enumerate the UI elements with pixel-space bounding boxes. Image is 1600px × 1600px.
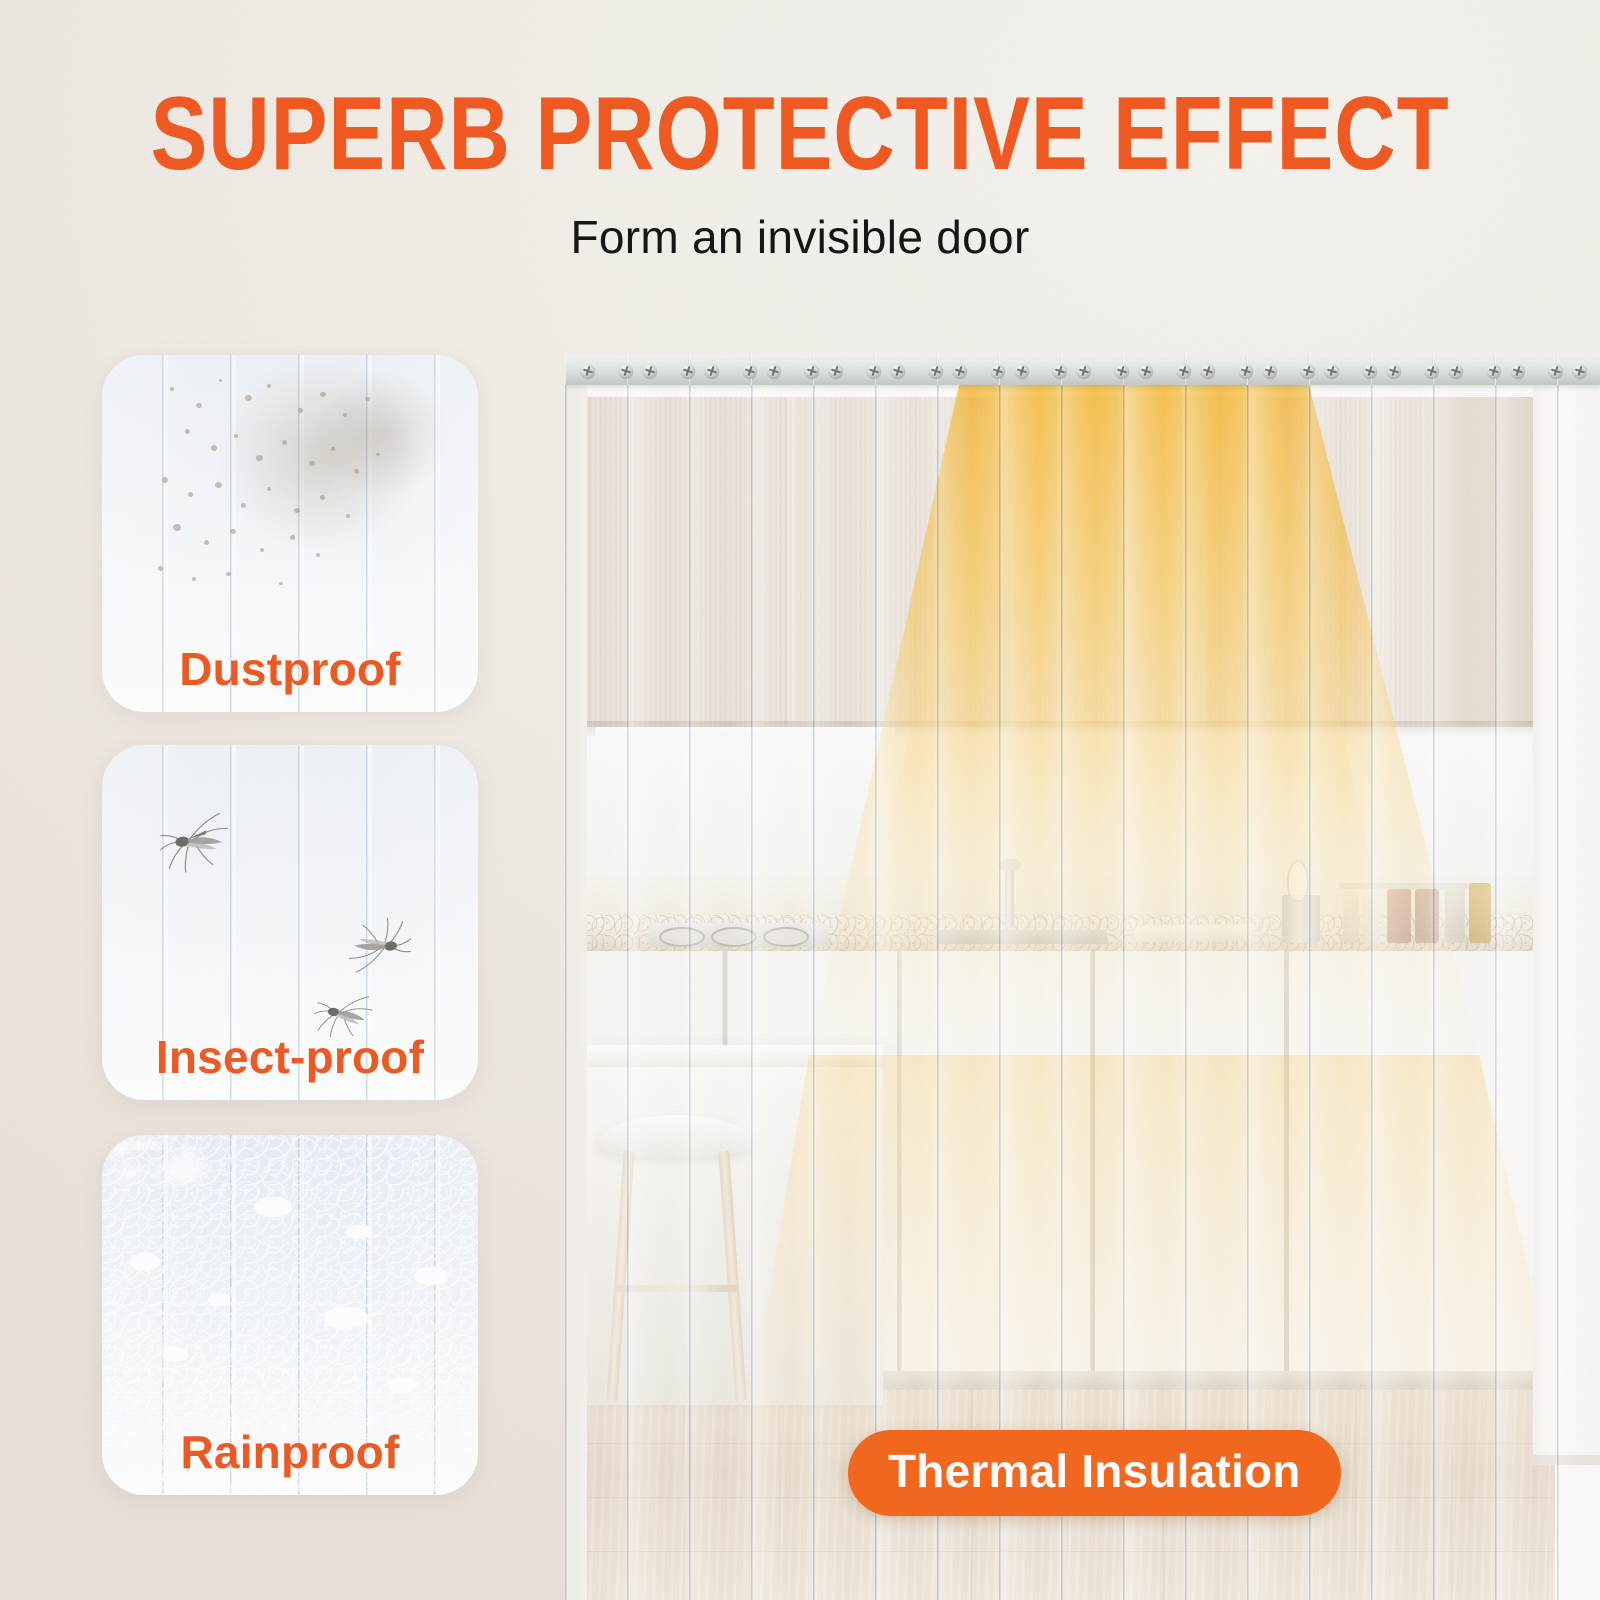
glass-jar [1445, 885, 1465, 943]
mosquito-icon [334, 910, 424, 976]
screw-icon [1201, 364, 1215, 378]
feature-label-dustproof: Dustproof [102, 642, 478, 696]
screw-icon [619, 364, 633, 378]
screw-icon [1425, 364, 1439, 378]
kitchen-scene-photo [565, 355, 1600, 1600]
glass-jar [1363, 891, 1379, 943]
page-subtitle: Form an invisible door [0, 210, 1600, 265]
screw-icon [1487, 364, 1501, 378]
screw-icon [643, 364, 657, 378]
screw-icon [767, 364, 781, 378]
feature-card-dustproof[interactable]: Dustproof [102, 355, 478, 712]
product-feature-graphic: SUPERB PROTECTIVE EFFECT Form an invisib… [0, 0, 1600, 1600]
screw-icon [1239, 364, 1253, 378]
screw-icon [891, 364, 905, 378]
screw-icon [1511, 364, 1525, 378]
screw-icon [1077, 364, 1091, 378]
screw-icon [805, 364, 819, 378]
faucet [1005, 865, 1014, 929]
glass-jar [1415, 889, 1439, 943]
screw-icon [1573, 364, 1587, 378]
right-wall-base [1533, 1455, 1600, 1465]
screw-icon [743, 364, 757, 378]
screw-icon [867, 364, 881, 378]
screw-icon [929, 364, 943, 378]
mounting-rail [565, 355, 1600, 385]
right-side-wall [1533, 355, 1600, 1465]
screw-icon [1139, 364, 1153, 378]
screw-icon [681, 364, 695, 378]
screw-icon [705, 364, 719, 378]
glass-jar [1469, 883, 1491, 943]
screw-icon [1263, 364, 1277, 378]
feature-card-insect-proof[interactable]: Insect-proof [102, 745, 478, 1100]
screw-icon [1549, 364, 1563, 378]
feature-label-rainproof: Rainproof [102, 1425, 478, 1479]
cutting-board [1135, 924, 1255, 942]
feature-label-insect-proof: Insect-proof [102, 1030, 478, 1084]
screw-icon [1325, 364, 1339, 378]
stool-footrest [617, 1285, 737, 1292]
thermal-insulation-badge[interactable]: Thermal Insulation [848, 1430, 1341, 1516]
screw-icon [1115, 364, 1129, 378]
sink [937, 930, 1107, 944]
faucet-head [999, 859, 1021, 871]
dust-particles-icon [102, 355, 478, 619]
screw-icon [1363, 364, 1377, 378]
mosquito-icon [146, 809, 243, 881]
utensil-holder [1282, 895, 1320, 943]
screw-icon [1449, 364, 1463, 378]
page-title: SUPERB PROTECTIVE EFFECT [144, 82, 1456, 186]
spice-rack-shelf [1339, 883, 1489, 889]
glass-jar [1343, 891, 1359, 943]
screw-icon [1387, 364, 1401, 378]
whisk-icon [1287, 860, 1309, 902]
screw-icon [991, 364, 1005, 378]
screw-icon [1301, 364, 1315, 378]
upper-cabinets [587, 397, 1425, 727]
island-top [587, 1045, 883, 1067]
screw-icon [581, 364, 595, 378]
screw-icon [953, 364, 967, 378]
kitchen-room [587, 355, 1600, 1600]
screw-icon [1177, 364, 1191, 378]
screw-icon [1053, 364, 1067, 378]
screw-icon [1015, 364, 1029, 378]
feature-card-rainproof[interactable]: Rainproof [102, 1135, 478, 1495]
left-wall [565, 355, 587, 1600]
screw-icon [829, 364, 843, 378]
glass-jar [1387, 889, 1411, 943]
